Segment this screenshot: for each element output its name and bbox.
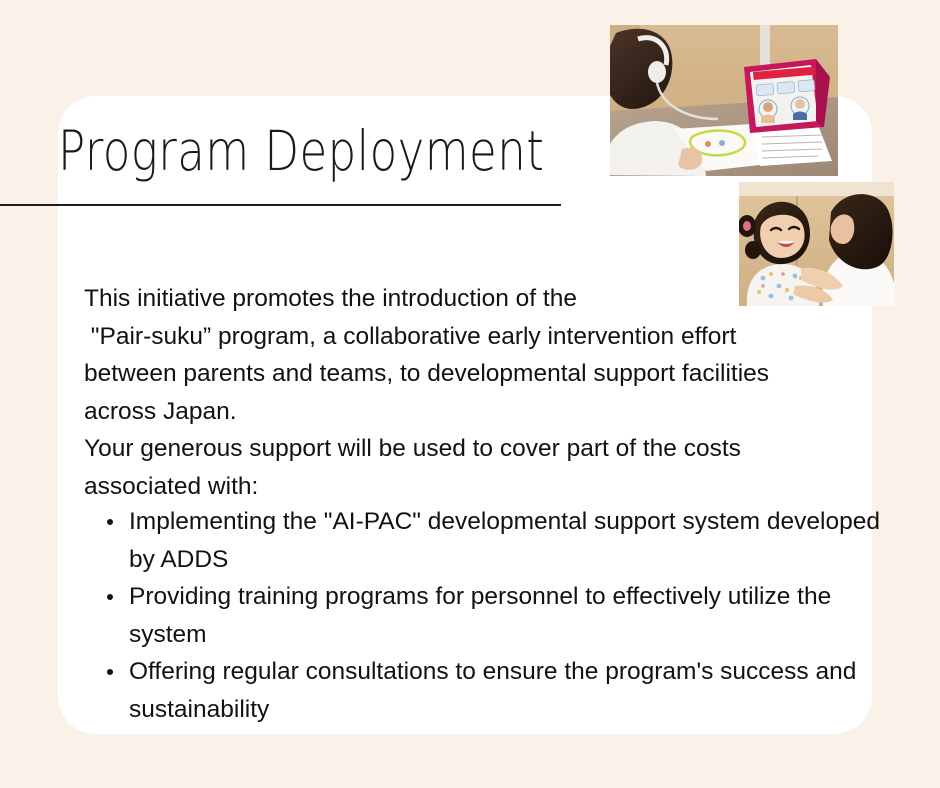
slide-canvas: Program Deployment bbox=[0, 0, 940, 788]
list-item-label: Providing training programs for personne… bbox=[129, 583, 831, 648]
bullet-icon bbox=[107, 519, 113, 525]
body-line: "Pair-suku” program, a collaborative ear… bbox=[84, 318, 894, 356]
body-paragraph: This initiative promotes the introductio… bbox=[84, 280, 894, 506]
list-item-label: Offering regular consultations to ensure… bbox=[129, 658, 856, 723]
body-line: between parents and teams, to developmen… bbox=[84, 355, 894, 393]
photo-tablet-session bbox=[610, 25, 838, 176]
body-line: This initiative promotes the introductio… bbox=[84, 280, 894, 318]
bullet-icon bbox=[107, 669, 113, 675]
list-item-label: Implementing the "AI-PAC" developmental … bbox=[129, 508, 880, 573]
list-item: Implementing the "AI-PAC" developmental … bbox=[84, 503, 904, 578]
list-item: Providing training programs for personne… bbox=[84, 578, 904, 653]
body-line: associated with: bbox=[84, 468, 894, 506]
body-line: Your generous support will be used to co… bbox=[84, 430, 894, 468]
bullet-icon bbox=[107, 594, 113, 600]
page-title: Program Deployment bbox=[58, 112, 484, 190]
benefits-list: Implementing the "AI-PAC" developmental … bbox=[84, 503, 904, 729]
body-line: across Japan. bbox=[84, 393, 894, 431]
list-item: Offering regular consultations to ensure… bbox=[84, 653, 904, 728]
title-divider bbox=[0, 204, 561, 206]
